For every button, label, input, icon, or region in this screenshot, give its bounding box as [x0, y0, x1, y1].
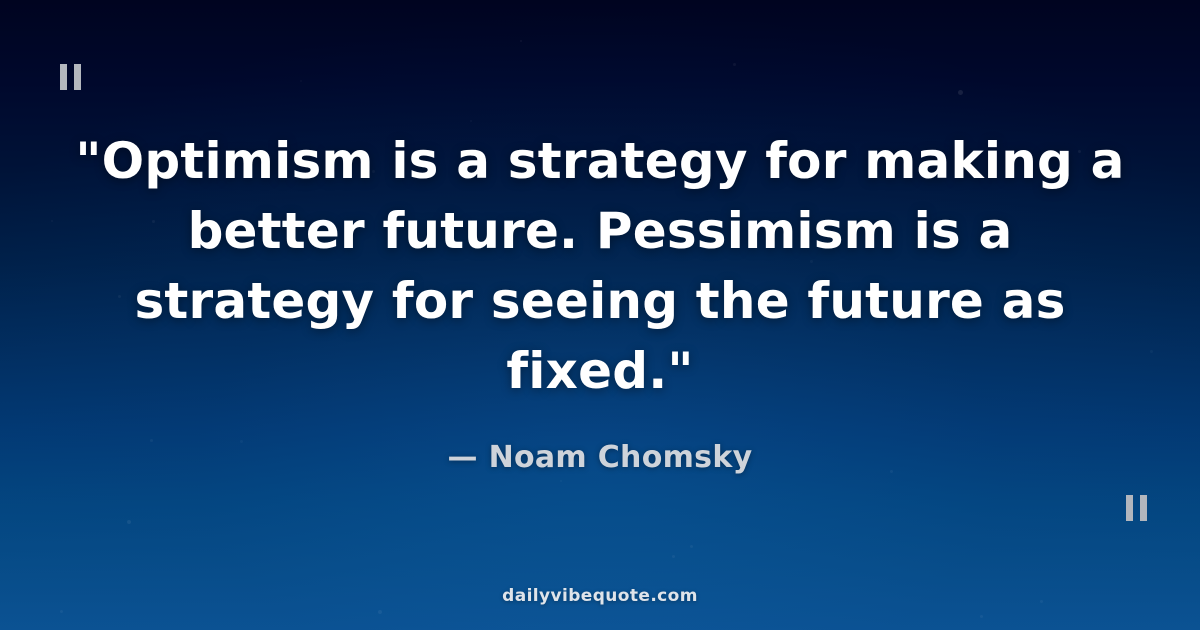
- quotation-mark-icon-top: [60, 64, 81, 90]
- particle-dot: [672, 555, 675, 558]
- particle-dot: [378, 610, 382, 614]
- quotation-mark-icon-bottom: [1126, 495, 1147, 521]
- quote-text: "Optimism is a strategy for making a bet…: [72, 126, 1128, 406]
- quote-content: "Optimism is a strategy for making a bet…: [0, 126, 1200, 475]
- particle-dot: [560, 480, 562, 482]
- particle-dot: [690, 545, 693, 548]
- quote-bar-right: [1140, 495, 1147, 521]
- particle-dot: [300, 80, 302, 82]
- particle-dot: [470, 120, 472, 122]
- particle-dot: [60, 610, 63, 613]
- site-url-label: dailyvibequote.com: [502, 586, 698, 606]
- quote-bar-left: [60, 64, 67, 90]
- quote-bar-left: [1126, 495, 1133, 521]
- particle-dot: [127, 520, 131, 524]
- quote-card: "Optimism is a strategy for making a bet…: [0, 0, 1200, 630]
- particle-dot: [520, 40, 522, 42]
- particle-dot: [980, 615, 983, 618]
- particle-dot: [733, 63, 736, 66]
- card-footer: dailyvibequote.com: [0, 586, 1200, 606]
- particle-dot: [958, 90, 963, 95]
- quote-attribution: — Noam Chomsky: [72, 440, 1128, 475]
- quote-bar-right: [74, 64, 81, 90]
